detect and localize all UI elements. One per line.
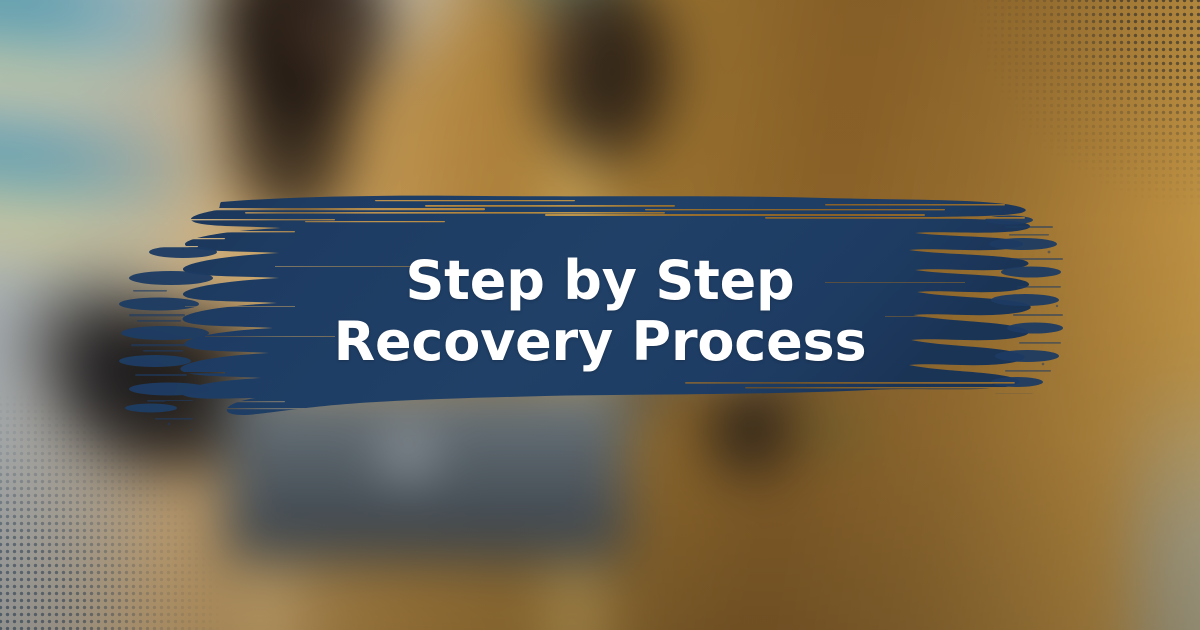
share-card: Step by Step Recovery Process [0,0,1200,630]
laptop-logo-icon [382,430,434,482]
brush-stroke-banner [125,186,1055,436]
